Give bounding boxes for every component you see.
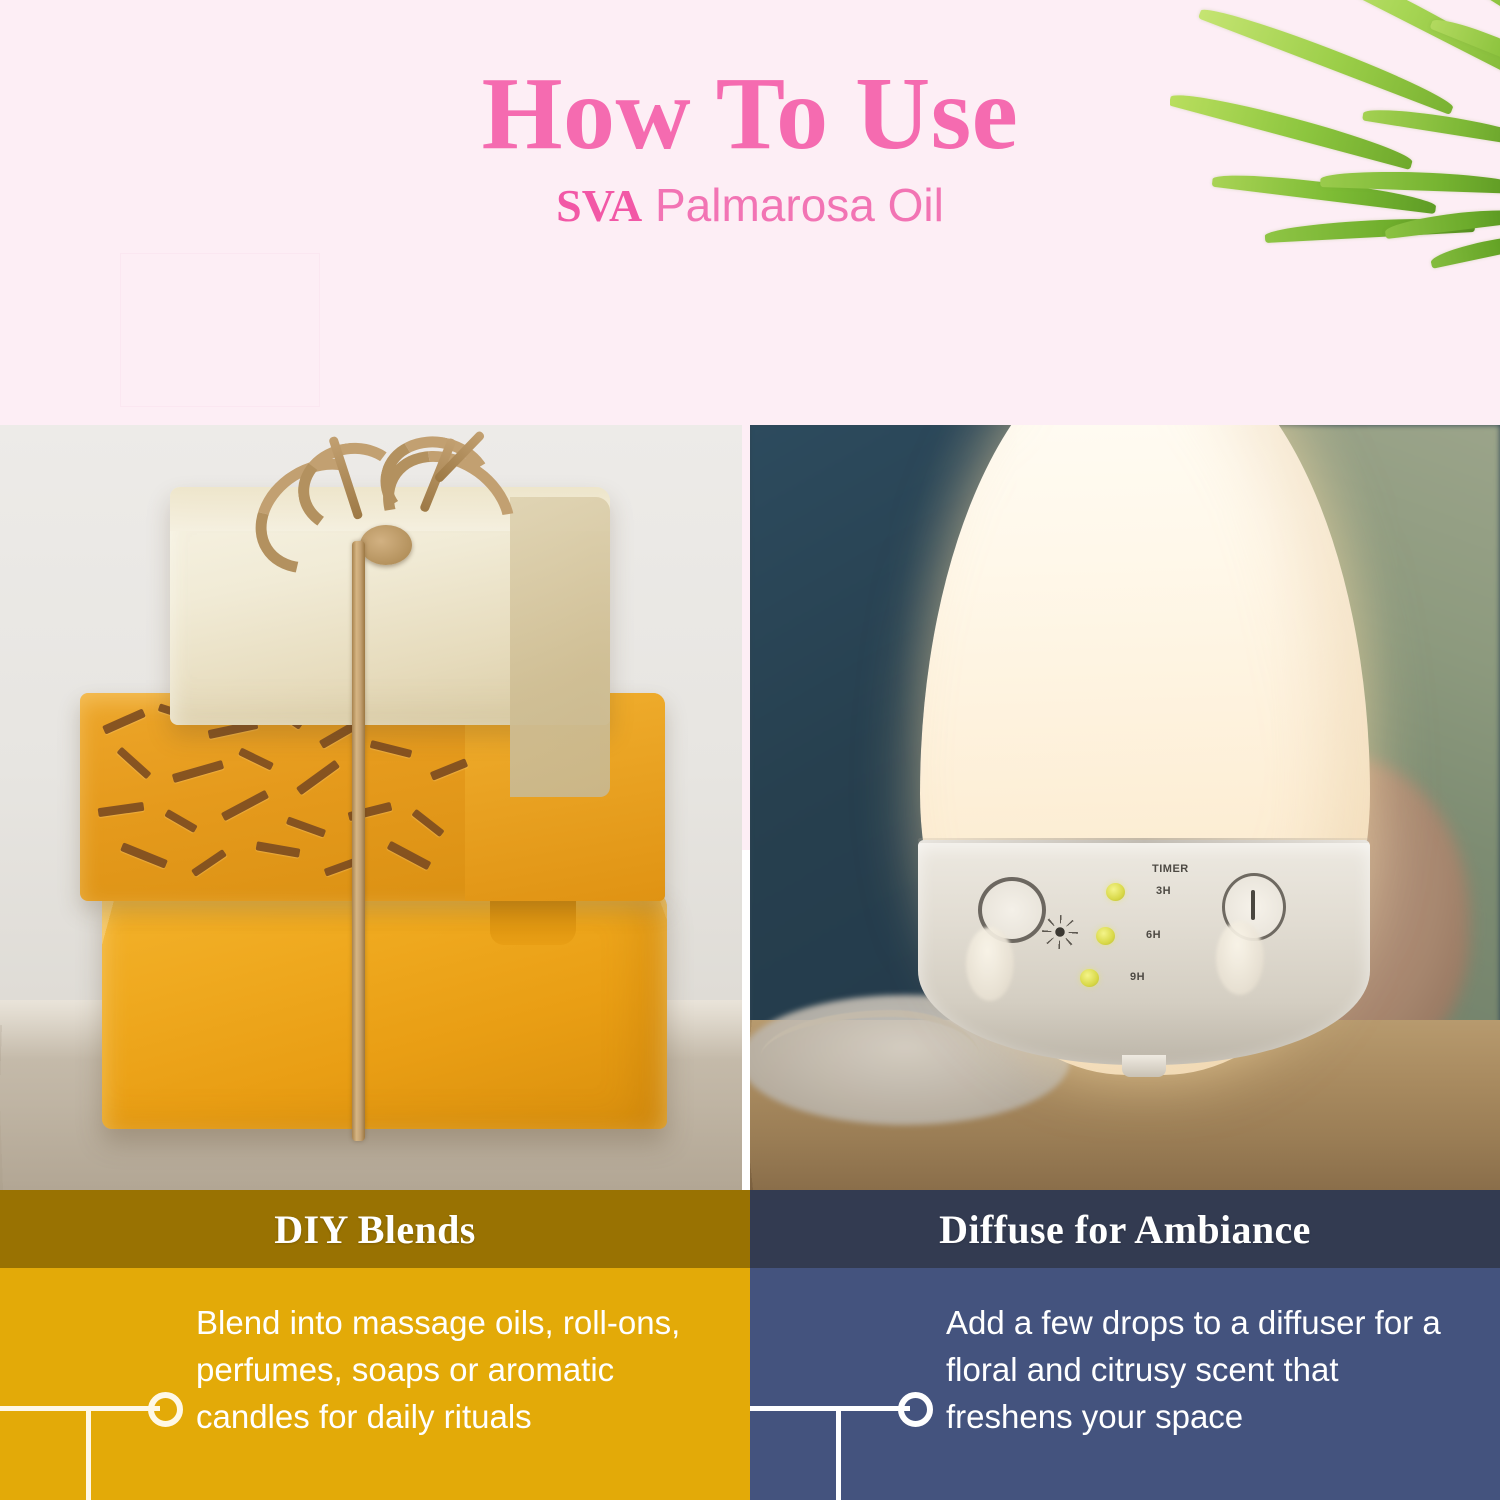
timer-led-3h: [1106, 883, 1125, 901]
caption-heading: Diffuse for Ambiance: [939, 1206, 1311, 1253]
twine-bow: [210, 437, 570, 587]
soap-photo: [0, 425, 742, 1190]
connector-dot-icon: [148, 1392, 183, 1427]
photo-diy-blends: [0, 425, 742, 1190]
connector-line-icon: [0, 1346, 200, 1500]
timer-option-3h[interactable]: 3H: [1156, 885, 1171, 897]
product-name: [642, 179, 655, 231]
timer-led-6h: [1096, 927, 1115, 945]
connector-horizontal: [750, 1406, 910, 1411]
caption-diy-blends: DIY Blends Blend into massage oils, roll…: [0, 1190, 750, 1500]
caption-row: DIY Blends Blend into massage oils, roll…: [0, 1190, 1500, 1500]
photo-row: TIMER 3H 6H 9H: [0, 425, 1500, 1190]
timer-option-6h[interactable]: 6H: [1146, 929, 1161, 941]
caption-diffuse-for-ambiance: Diffuse for Ambiance Add a few drops to …: [750, 1190, 1500, 1500]
connector-line-icon: [750, 1346, 950, 1500]
infographic-page: How To Use SVA Palmarosa Oil: [0, 0, 1500, 1500]
control-highlight-left: [966, 927, 1014, 1001]
header-band: How To Use SVA Palmarosa Oil: [0, 0, 1500, 425]
palmarosa-grass-icon: [1170, 0, 1500, 300]
connector-vertical: [836, 1406, 841, 1500]
caption-heading: DIY Blends: [274, 1206, 475, 1253]
caption-text: Add a few drops to a diffuser for a flor…: [946, 1300, 1466, 1441]
caption-body-diy-blends: Blend into massage oils, roll-ons, perfu…: [0, 1268, 750, 1500]
brightness-glyph: [1048, 921, 1072, 943]
control-highlight-right: [1216, 921, 1264, 995]
caption-header-diffuse: Diffuse for Ambiance: [750, 1190, 1500, 1268]
diffuser-photo: TIMER 3H 6H 9H: [750, 425, 1500, 1190]
connector-dot-icon: [898, 1392, 933, 1427]
soap-stack: [60, 445, 680, 1145]
connector-vertical: [86, 1406, 91, 1500]
decorative-frame: [120, 253, 320, 407]
diffuser-seam: [918, 838, 1370, 843]
timer-label: TIMER: [1152, 863, 1189, 875]
timer-led-9h: [1080, 969, 1099, 987]
caption-text: Blend into massage oils, roll-ons, perfu…: [196, 1300, 716, 1441]
brand-name: SVA: [556, 180, 642, 231]
timer-option-9h[interactable]: 9H: [1130, 971, 1145, 983]
product-name-text: Palmarosa Oil: [655, 179, 944, 231]
photo-diffuse-for-ambiance: TIMER 3H 6H 9H: [750, 425, 1500, 1190]
caption-header-diy-blends: DIY Blends: [0, 1190, 750, 1268]
twine-knot: [360, 525, 412, 565]
twine-vertical-strand: [352, 541, 365, 1141]
diffuser-foot: [1122, 1055, 1166, 1077]
soap-bar-bottom: [102, 891, 667, 1129]
caption-body-diffuse: Add a few drops to a diffuser for a flor…: [750, 1268, 1500, 1500]
connector-horizontal: [0, 1406, 160, 1411]
diffuser-control-panel: TIMER 3H 6H 9H: [930, 855, 1360, 1015]
